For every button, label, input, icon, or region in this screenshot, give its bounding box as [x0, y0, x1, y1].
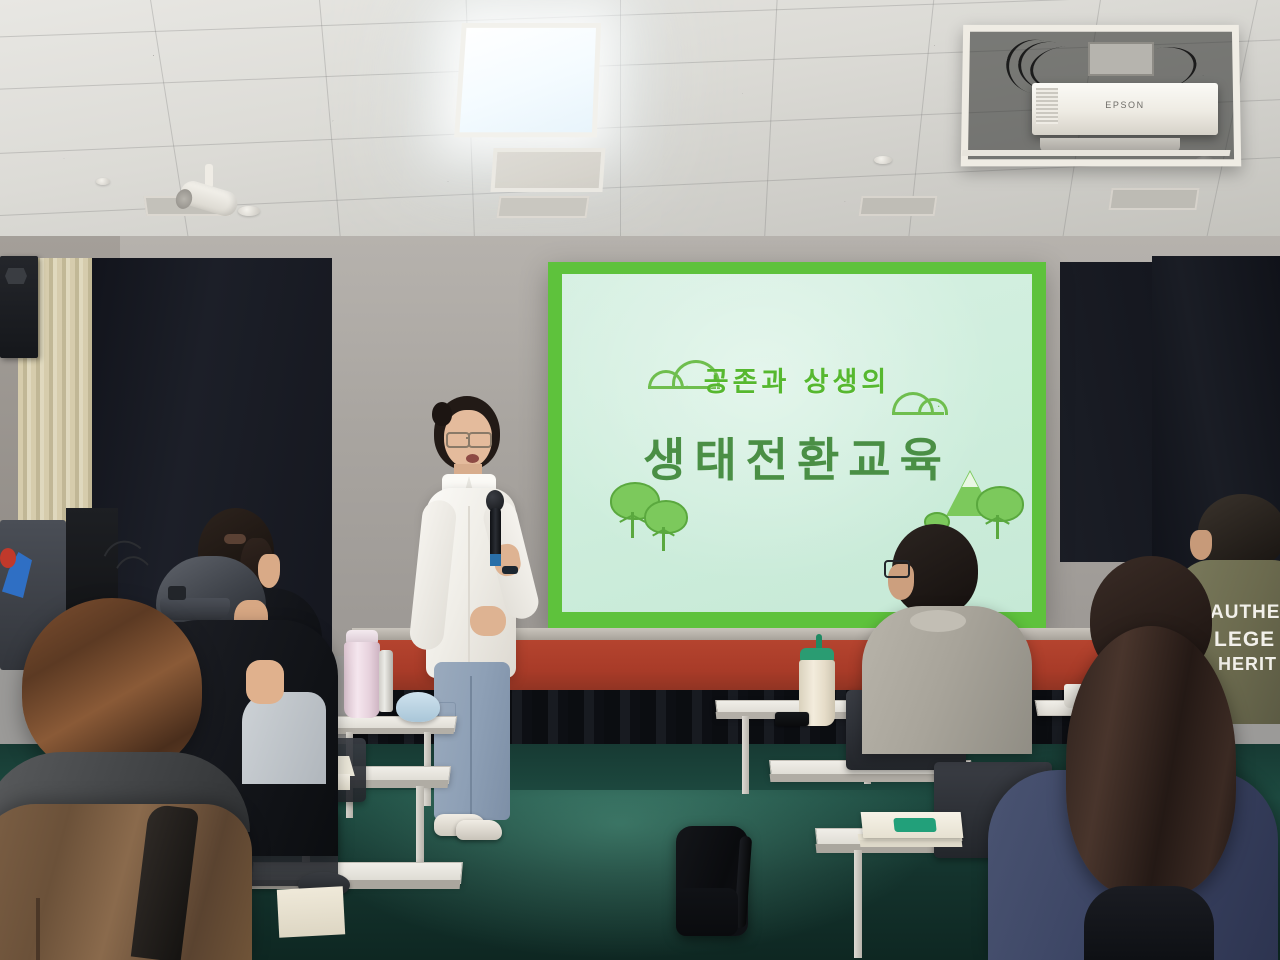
hair	[22, 598, 202, 776]
hair	[1066, 626, 1236, 896]
smoke-detector-icon	[874, 156, 892, 164]
slide-subtitle: 공존과 상생의	[562, 360, 1032, 399]
blue-pouch	[396, 692, 440, 722]
glasses-icon	[468, 432, 492, 448]
hair-tie	[224, 534, 246, 544]
sprinkler-icon	[96, 178, 110, 185]
ceiling-light-panel-secondary	[490, 148, 605, 192]
ceiling-vent	[859, 196, 938, 216]
attendee-leather-jacket-woman	[0, 598, 276, 960]
ceiling-vent	[1108, 188, 1199, 210]
paper-sheet	[277, 886, 345, 937]
booklet-stack	[858, 812, 966, 854]
small-bottle	[379, 650, 393, 712]
ceiling-light-panel	[454, 23, 601, 137]
glasses-icon	[446, 432, 470, 448]
smartphone	[775, 712, 809, 726]
sprinkler-icon	[238, 206, 260, 216]
desk-leg	[416, 786, 424, 864]
glasses-icon	[884, 560, 910, 578]
desk-leg	[854, 850, 862, 958]
desk-leg	[742, 716, 749, 794]
monitor-logo-accent-icon	[0, 548, 16, 568]
attendee-navy-hoodie-woman	[988, 556, 1280, 960]
booklet-logo-icon	[893, 818, 936, 832]
ceiling-beam	[961, 150, 1230, 156]
classroom-photo: EPSON .. .. 공존과 상생의	[0, 0, 1280, 960]
projector-brand-label: EPSON	[1032, 100, 1218, 110]
ceiling-vent	[496, 196, 589, 218]
speaker-grille-icon	[5, 268, 27, 284]
chair-back	[1084, 886, 1214, 960]
backpack-pocket	[676, 888, 738, 936]
